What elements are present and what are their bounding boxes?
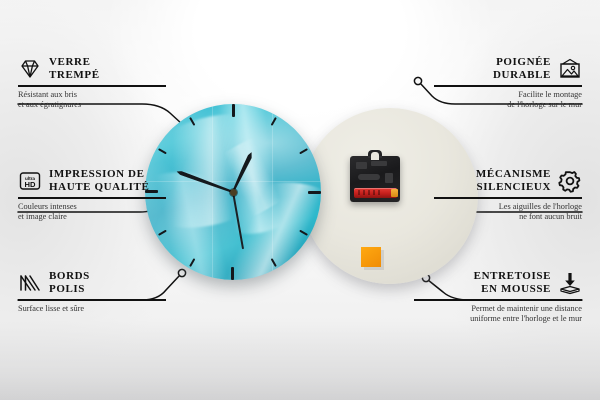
svg-text:HD: HD (25, 180, 36, 189)
callout-title: VERRE TREMPÉ (49, 56, 100, 81)
callout-poignee-durable[interactable]: POIGNÉE DURABLE Facilite le montage de l… (434, 56, 582, 111)
gear-icon (558, 169, 582, 193)
glass-clock-face (145, 104, 321, 280)
battery-label (358, 190, 382, 195)
callout-subtitle: Les aiguilles de l'horloge ne font aucun… (434, 202, 582, 223)
connector-node (414, 77, 421, 84)
battery (354, 188, 398, 198)
callout-title: BORDS POLIS (49, 270, 90, 295)
ultra-hd-icon: ultra HD (18, 169, 42, 193)
callout-subtitle: Permet de maintenir une distance uniform… (414, 304, 582, 325)
movement-hanger-tab (368, 150, 382, 158)
movement-detail (358, 174, 380, 180)
movement-detail (356, 162, 367, 169)
movement-detail (385, 173, 393, 183)
movement-detail (371, 161, 387, 166)
feather-pattern (145, 104, 307, 247)
callout-title: IMPRESSION DE HAUTE QUALITÉ (49, 168, 149, 193)
infographic-canvas: VERRE TREMPÉ Résistant aux bris et aux é… (0, 0, 600, 400)
callout-impression-haute-qualite[interactable]: ultra HD IMPRESSION DE HAUTE QUALITÉ Cou… (18, 168, 166, 223)
polished-edges-icon (18, 271, 42, 295)
callout-title: POIGNÉE DURABLE (493, 56, 551, 81)
foam-spacer (361, 247, 381, 267)
callout-subtitle: Facilite le montage de l'horloge sur le … (434, 90, 582, 111)
floor-shadow (0, 320, 600, 400)
callout-subtitle: Surface lisse et sûre (18, 304, 166, 315)
divider (18, 85, 166, 87)
picture-hanger-icon (558, 57, 582, 81)
callout-subtitle: Résistant aux bris et aux égratignures (18, 90, 166, 111)
callout-bords-polis[interactable]: BORDS POLIS Surface lisse et sûre (18, 270, 166, 314)
divider (18, 299, 166, 301)
foam-spacer-icon (558, 271, 582, 295)
divider (18, 197, 166, 199)
clock-center-hub (230, 189, 237, 196)
divider (434, 197, 582, 199)
callout-title: MÉCANISME SILENCIEUX (476, 168, 551, 193)
callout-mecanisme-silencieux[interactable]: MÉCANISME SILENCIEUX Les aiguilles de l'… (434, 168, 582, 223)
quartz-movement (350, 156, 400, 202)
diamond-icon (18, 57, 42, 81)
callout-title: ENTRETOISE EN MOUSSE (474, 270, 551, 295)
callout-subtitle: Couleurs intenses et image claire (18, 202, 166, 223)
divider (414, 299, 582, 301)
divider (434, 85, 582, 87)
callout-verre-trempe[interactable]: VERRE TREMPÉ Résistant aux bris et aux é… (18, 56, 166, 111)
callout-entretoise-en-mousse[interactable]: ENTRETOISE EN MOUSSE Permet de maintenir… (414, 270, 582, 325)
